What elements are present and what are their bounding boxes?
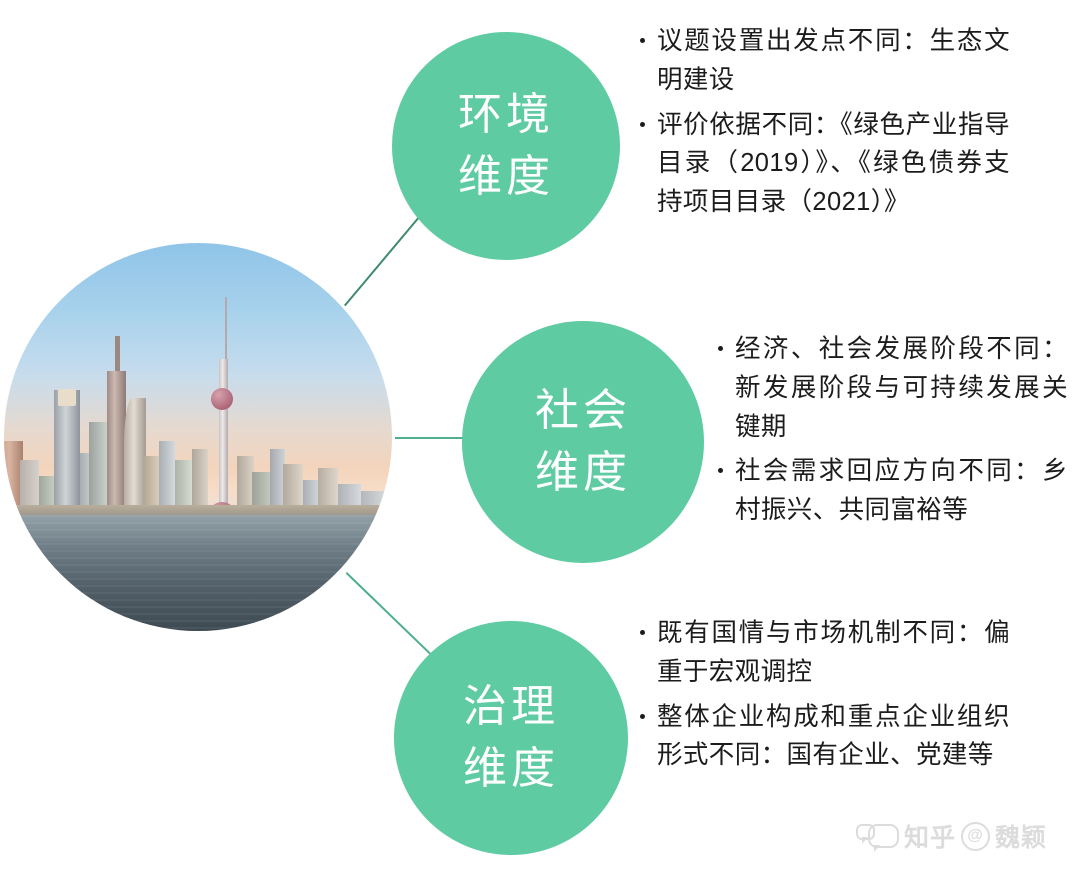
building — [89, 422, 106, 515]
at-icon: @ — [961, 822, 990, 851]
node-label-line1: 社会 — [535, 380, 631, 442]
node-circle-environment[interactable]: 环境 维度 — [392, 32, 620, 260]
bullet-block-environment: 议题设置出发点不同：生态文明建设 评价依据不同：《绿色产业指导目录（2019）》… — [638, 22, 1010, 228]
bullet-item: 整体企业构成和重点企业组织形式不同：国有企业、党建等 — [638, 698, 1010, 776]
bullet-item: 议题设置出发点不同：生态文明建设 — [638, 22, 1010, 100]
building — [159, 441, 175, 515]
node-label-line2: 维度 — [458, 146, 554, 208]
bullet-item: 经济、社会发展阶段不同：新发展阶段与可持续发展关键期 — [716, 330, 1068, 446]
oriental-pearl-upper-sphere — [211, 388, 233, 410]
bullet-block-social: 经济、社会发展阶段不同：新发展阶段与可持续发展关键期 社会需求回应方向不同：乡村… — [716, 330, 1068, 536]
bullet-list: 议题设置出发点不同：生态文明建设 评价依据不同：《绿色产业指导目录（2019）》… — [638, 22, 1010, 222]
node-label-line2: 维度 — [463, 738, 559, 800]
bullet-list: 经济、社会发展阶段不同：新发展阶段与可持续发展关键期 社会需求回应方向不同：乡村… — [716, 330, 1068, 530]
jinmao-spire — [115, 336, 120, 371]
swfc-aperture — [58, 389, 75, 406]
watermark: 知乎 @ 魏颖 — [856, 818, 1047, 854]
node-circle-social[interactable]: 社会 维度 — [462, 321, 704, 563]
node-circle-governance[interactable]: 治理 维度 — [394, 621, 628, 855]
building-shanghai-tower — [124, 398, 145, 514]
oriental-pearl-antenna — [225, 297, 226, 359]
watermark-platform: 知乎 — [904, 818, 956, 854]
oriental-pearl-tower-column — [219, 359, 228, 514]
bullet-item: 社会需求回应方向不同：乡村振兴、共同富裕等 — [716, 452, 1068, 530]
building-swfc — [54, 390, 79, 514]
bullet-item: 评价依据不同：《绿色产业指导目录（2019）》、《绿色债券支持项目目录（2021… — [638, 106, 1010, 222]
bullet-list: 既有国情与市场机制不同：偏重于宏观调控 整体企业构成和重点企业组织形式不同：国有… — [638, 614, 1010, 775]
bullet-item: 既有国情与市场机制不同：偏重于宏观调控 — [638, 614, 1010, 692]
watermark-author: 魏颖 — [995, 818, 1047, 854]
speech-bubble-icon — [868, 824, 899, 848]
bullet-block-governance: 既有国情与市场机制不同：偏重于宏观调控 整体企业构成和重点企业组织形式不同：国有… — [638, 614, 1010, 781]
huangpu-river-water — [4, 515, 392, 631]
shanghai-skyline-photo — [4, 243, 392, 631]
node-label-line1: 环境 — [458, 84, 554, 146]
slide-canvas: 环境 维度 社会 维度 治理 维度 议题设置出发点不同：生态文明建设 评价依据不… — [0, 0, 1080, 872]
node-label-line1: 治理 — [463, 676, 559, 738]
node-label-line2: 维度 — [535, 442, 631, 504]
